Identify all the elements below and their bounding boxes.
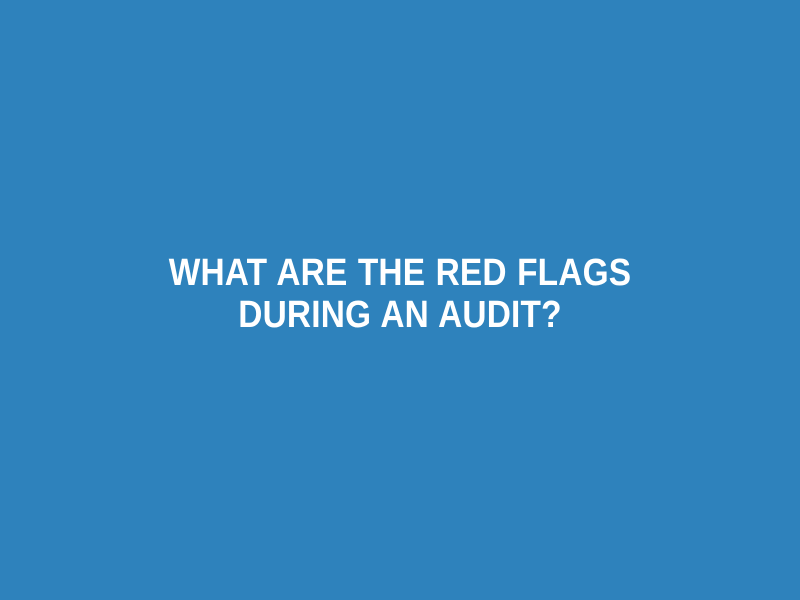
title-block: WHAT ARE THE RED FLAGS DURING AN AUDIT? (0, 252, 800, 336)
page-title: WHAT ARE THE RED FLAGS DURING AN AUDIT? (101, 252, 699, 336)
title-card: WHAT ARE THE RED FLAGS DURING AN AUDIT? (0, 0, 800, 600)
